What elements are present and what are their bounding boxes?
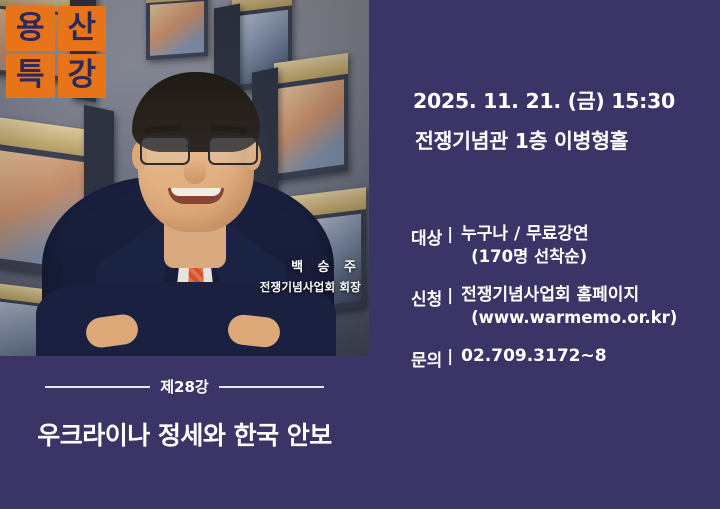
detail-row-contact: 문의 | 02.709.3172~8 bbox=[411, 346, 711, 371]
logo-cell-2: 산 bbox=[58, 6, 107, 51]
lecture-number: 제28강 bbox=[160, 376, 208, 397]
detail-label: 문의 bbox=[411, 346, 442, 371]
lecture-number-row: 제28강 bbox=[0, 376, 369, 397]
contact-phone: 02.709.3172~8 bbox=[461, 346, 606, 368]
speaker-name: 백 승 주 bbox=[121, 256, 361, 275]
detail-value-main: 전쟁기념사업회 홈페이지 bbox=[461, 285, 639, 305]
detail-separator: | bbox=[447, 346, 453, 365]
logo-cell-1: 용 bbox=[6, 6, 55, 51]
detail-value-main: 누구나 / 무료강연 bbox=[461, 224, 589, 244]
lecture-title: 우크라이나 정세와 한국 안보 bbox=[0, 416, 369, 452]
logo-cell-3: 특 bbox=[6, 54, 55, 99]
detail-row-registration: 신청 | 전쟁기념사업회 홈페이지 (www.warmemo.or.kr) bbox=[411, 285, 711, 328]
smiling-mouth bbox=[168, 188, 224, 204]
rule-right bbox=[219, 386, 324, 388]
glasses-icon bbox=[138, 136, 256, 162]
lecture-title-band: 제28강 우크라이나 정세와 한국 안보 bbox=[0, 356, 369, 509]
speaker-caption: 백 승 주 전쟁기념사업회 회장 bbox=[121, 256, 361, 295]
detail-separator: | bbox=[447, 224, 453, 243]
event-venue: 전쟁기념관 1층 이병형홀 bbox=[415, 124, 628, 154]
detail-value: 전쟁기념사업회 홈페이지 (www.warmemo.or.kr) bbox=[461, 285, 677, 328]
yongsan-lecture-logo: 용 산 특 강 bbox=[6, 6, 106, 98]
logo-cell-4: 강 bbox=[58, 54, 107, 99]
rule-left bbox=[45, 386, 150, 388]
detail-label: 신청 bbox=[411, 285, 442, 310]
speaker-role: 전쟁기념사업회 회장 bbox=[121, 279, 361, 295]
speaker-portrait bbox=[52, 60, 320, 356]
registration-website[interactable]: (www.warmemo.or.kr) bbox=[461, 307, 677, 328]
detail-label: 대상 bbox=[411, 224, 442, 249]
event-datetime: 2025. 11. 21. (금) 15:30 bbox=[413, 84, 675, 114]
detail-row-audience: 대상 | 누구나 / 무료강연 (170명 선착순) bbox=[411, 224, 711, 267]
poster: 백 승 주 전쟁기념사업회 회장 용 산 특 강 제28강 우크라이나 정세와 … bbox=[0, 0, 720, 509]
detail-separator: | bbox=[447, 285, 453, 304]
detail-value: 누구나 / 무료강연 (170명 선착순) bbox=[461, 224, 589, 267]
nose bbox=[184, 160, 206, 184]
detail-rows: 대상 | 누구나 / 무료강연 (170명 선착순) 신청 | 전쟁기념사업회 … bbox=[411, 224, 711, 377]
info-panel: 2025. 11. 21. (금) 15:30 전쟁기념관 1층 이병형홀 대상… bbox=[369, 0, 720, 509]
detail-value-sub: (170명 선착순) bbox=[461, 246, 589, 267]
